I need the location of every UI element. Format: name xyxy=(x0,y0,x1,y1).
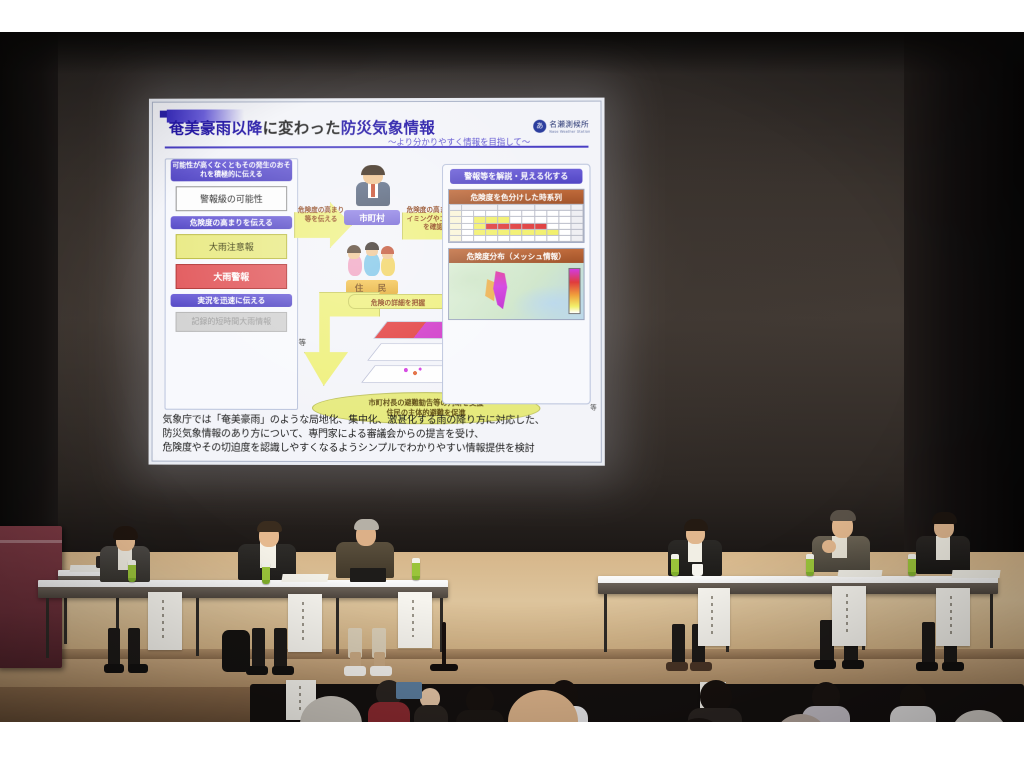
panelist-2-bottle xyxy=(262,562,270,584)
panelist-1-bottle xyxy=(128,560,136,582)
screen-inner: 奄美豪雨以降に変わった防災気象情報 ～より分かりやすく情報を目指して～ あ 名瀬… xyxy=(152,101,602,463)
slide-caption: 気象庁では「奄美豪雨」のような局地化、集中化、激甚化する雨の降り方に対応した、 … xyxy=(162,414,592,458)
panelist-1-leg xyxy=(108,628,120,668)
info-box-record-rainfall: 記録的短時間大雨情報 xyxy=(176,312,288,332)
wall-top-shadow xyxy=(0,32,1024,74)
logo-name: 名瀬測候所 xyxy=(549,119,590,130)
panel-table-right-leg xyxy=(604,594,607,652)
panelist-6 xyxy=(916,512,974,578)
caption-line-3: 危険度やその切迫度を認識しやすくなるようシンプルでわかりやすい情報提供を検討 xyxy=(162,442,592,457)
laptop xyxy=(350,568,386,582)
panelist-6-bottle xyxy=(908,554,916,576)
panel-table-left-leg xyxy=(336,598,339,654)
panelist-5-shoe xyxy=(842,660,864,669)
panelist-2-leg xyxy=(274,628,287,670)
panelist-2-leg xyxy=(252,628,265,670)
panelist-5-bottle xyxy=(806,554,814,576)
panel-table-left-leg xyxy=(46,598,49,658)
panelist-6-leg xyxy=(922,622,935,666)
panelist-4-cup xyxy=(692,564,703,576)
caption-line-1: 気象庁では「奄美豪雨」のような局地化、集中化、激甚化する雨の降り方に対応した、 xyxy=(163,414,593,429)
backpack xyxy=(222,630,250,672)
right-visualization-column: 警報等を解説・見える化する 危険度を色分けした時系列 xyxy=(442,164,591,405)
panel-table-right-leg xyxy=(990,594,993,648)
slide-title-part1: 奄美豪雨以降 xyxy=(169,119,263,137)
municipality-label: 市町村 xyxy=(344,210,400,225)
logo-mark-icon: あ xyxy=(533,120,546,133)
info-box-heavy-rain-warning: 大雨警報 xyxy=(176,264,288,289)
stage-riser xyxy=(0,659,1024,687)
panelist-6-shoe xyxy=(942,662,964,671)
auditorium-photo: 奄美豪雨以降に変わった防災気象情報 ～より分かりやすく情報を目指して～ あ 名瀬… xyxy=(0,32,1024,722)
mesh-map-card: 危険度分布（メッシュ情報） xyxy=(448,248,585,320)
letterbox-top xyxy=(0,0,1024,32)
smartphone xyxy=(396,682,422,699)
panelist-2-nameplate xyxy=(288,594,322,652)
weather-station-logo: あ 名瀬測候所 Nase Weather Station xyxy=(533,119,590,134)
panelist-6-nameplate xyxy=(936,588,970,646)
panelist-1-nameplate xyxy=(148,592,182,650)
panelist-4-shoe xyxy=(666,662,688,671)
panelist-6-shoe xyxy=(916,662,938,671)
panelist-1-shoe xyxy=(104,664,124,673)
timeline-card: 危険度を色分けした時系列 xyxy=(448,189,584,243)
panelist-4-nameplate xyxy=(698,588,730,646)
detail-grasp-label: 危険の詳細を把握 xyxy=(348,294,448,309)
panelist-1-leg xyxy=(128,628,140,668)
stage-edge xyxy=(0,649,1024,659)
panelist-1 xyxy=(98,524,154,586)
panelist-4-leg xyxy=(672,624,685,666)
panelist-6-papers xyxy=(951,570,1000,578)
panelist-5-nameplate xyxy=(832,586,866,646)
panelist-1-shoe xyxy=(128,664,148,673)
risk-timeline-table xyxy=(449,204,583,242)
panelist-3-bottle xyxy=(412,558,420,580)
left-header-1: 可能性が高くなくともその発生のおそれを積極的に伝える xyxy=(171,159,292,181)
mesh-risk-map xyxy=(449,263,584,319)
mic-base xyxy=(430,664,458,671)
panelist-5-papers xyxy=(838,570,883,577)
municipality-figure-icon xyxy=(350,165,396,211)
timeline-card-title: 危険度を色分けした時系列 xyxy=(449,190,583,204)
caption-line-2: 防災気象情報のあり方について、専門家による審議会からの提言を受け、 xyxy=(162,428,592,443)
left-info-column: 可能性が高くなくともその発生のおそれを積極的に伝える 警報級の可能性 危険度の高… xyxy=(165,158,299,410)
left-header-3: 実況を迅速に伝える xyxy=(171,294,293,307)
arrow-to-municipality-label: 危険度の高まり等を伝える xyxy=(297,206,345,223)
panelist-3-nameplate xyxy=(398,592,432,648)
slide-title-part3: 防災気象情報 xyxy=(341,119,435,137)
right-etc-label: 等 xyxy=(590,401,597,411)
mesh-color-legend xyxy=(568,268,580,314)
left-etc-label: 等 xyxy=(299,337,306,348)
panelist-4-bottle xyxy=(671,554,679,576)
slide-subtitle: ～より分かりやすく情報を目指して～ xyxy=(388,136,530,148)
panelist-2-papers xyxy=(281,574,328,582)
panelist-5-shoe xyxy=(814,660,836,669)
info-box-warning-possibility: 警報級の可能性 xyxy=(176,186,288,211)
panel-table-left-leg xyxy=(196,598,199,656)
info-box-heavy-rain-advisory: 大雨注意報 xyxy=(176,234,288,259)
panelist-3-shoe xyxy=(370,666,392,676)
right-panel-title: 警報等を解説・見える化する xyxy=(450,169,582,184)
panelist-3-shoe xyxy=(344,666,366,676)
presentation-slide: 奄美豪雨以降に変わった防災気象情報 ～より分かりやすく情報を目指して～ あ 名瀬… xyxy=(153,102,601,462)
podium-top-trim xyxy=(0,540,62,543)
wall-left-shadow xyxy=(0,32,58,552)
panelist-4-shoe xyxy=(690,662,712,671)
slide-title-part2: に変わった xyxy=(262,119,340,137)
logo-roman: Nase Weather Station xyxy=(549,130,590,134)
mesh-map-card-title: 危険度分布（メッシュ情報） xyxy=(449,249,583,263)
wall-right-shadow xyxy=(904,32,1024,552)
projection-screen: 奄美豪雨以降に変わった防災気象情報 ～より分かりやすく情報を目指して～ あ 名瀬… xyxy=(149,98,605,466)
residents-family-icon xyxy=(344,242,402,282)
letterbox-bottom xyxy=(0,722,1024,768)
left-header-2: 危険度の高まりを伝える xyxy=(171,216,292,230)
screenshot-root: 奄美豪雨以降に変わった防災気象情報 ～より分かりやすく情報を目指して～ あ 名瀬… xyxy=(0,0,1024,768)
mic-stand xyxy=(442,622,446,668)
panelist-2-shoe xyxy=(272,666,294,675)
